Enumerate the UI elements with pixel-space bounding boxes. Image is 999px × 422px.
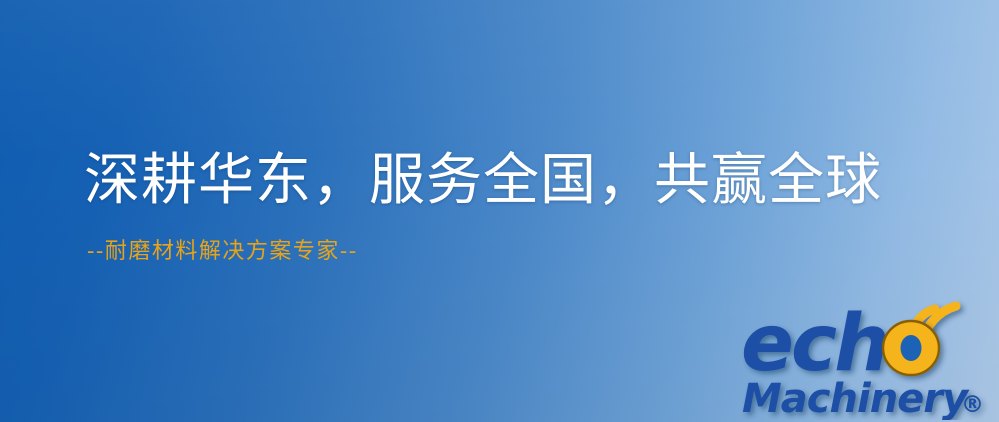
- banner-subtitle: --耐磨材料解决方案专家--: [87, 238, 882, 266]
- echo-machinery-logo[interactable]: ech Machinery ®: [739, 292, 991, 420]
- logo-trademark-symbol: ®: [961, 392, 984, 418]
- banner-text-block: 深耕华东，服务全国，共赢全球 --耐磨材料解决方案专家--: [84, 148, 882, 266]
- hero-banner: 深耕华东，服务全国，共赢全球 --耐磨材料解决方案专家-- ech: [0, 0, 999, 422]
- logo-wordmark-machinery: Machinery: [742, 376, 970, 420]
- logo-letter-o-counter: [901, 335, 922, 361]
- banner-headline: 深耕华东，服务全国，共赢全球: [84, 148, 882, 214]
